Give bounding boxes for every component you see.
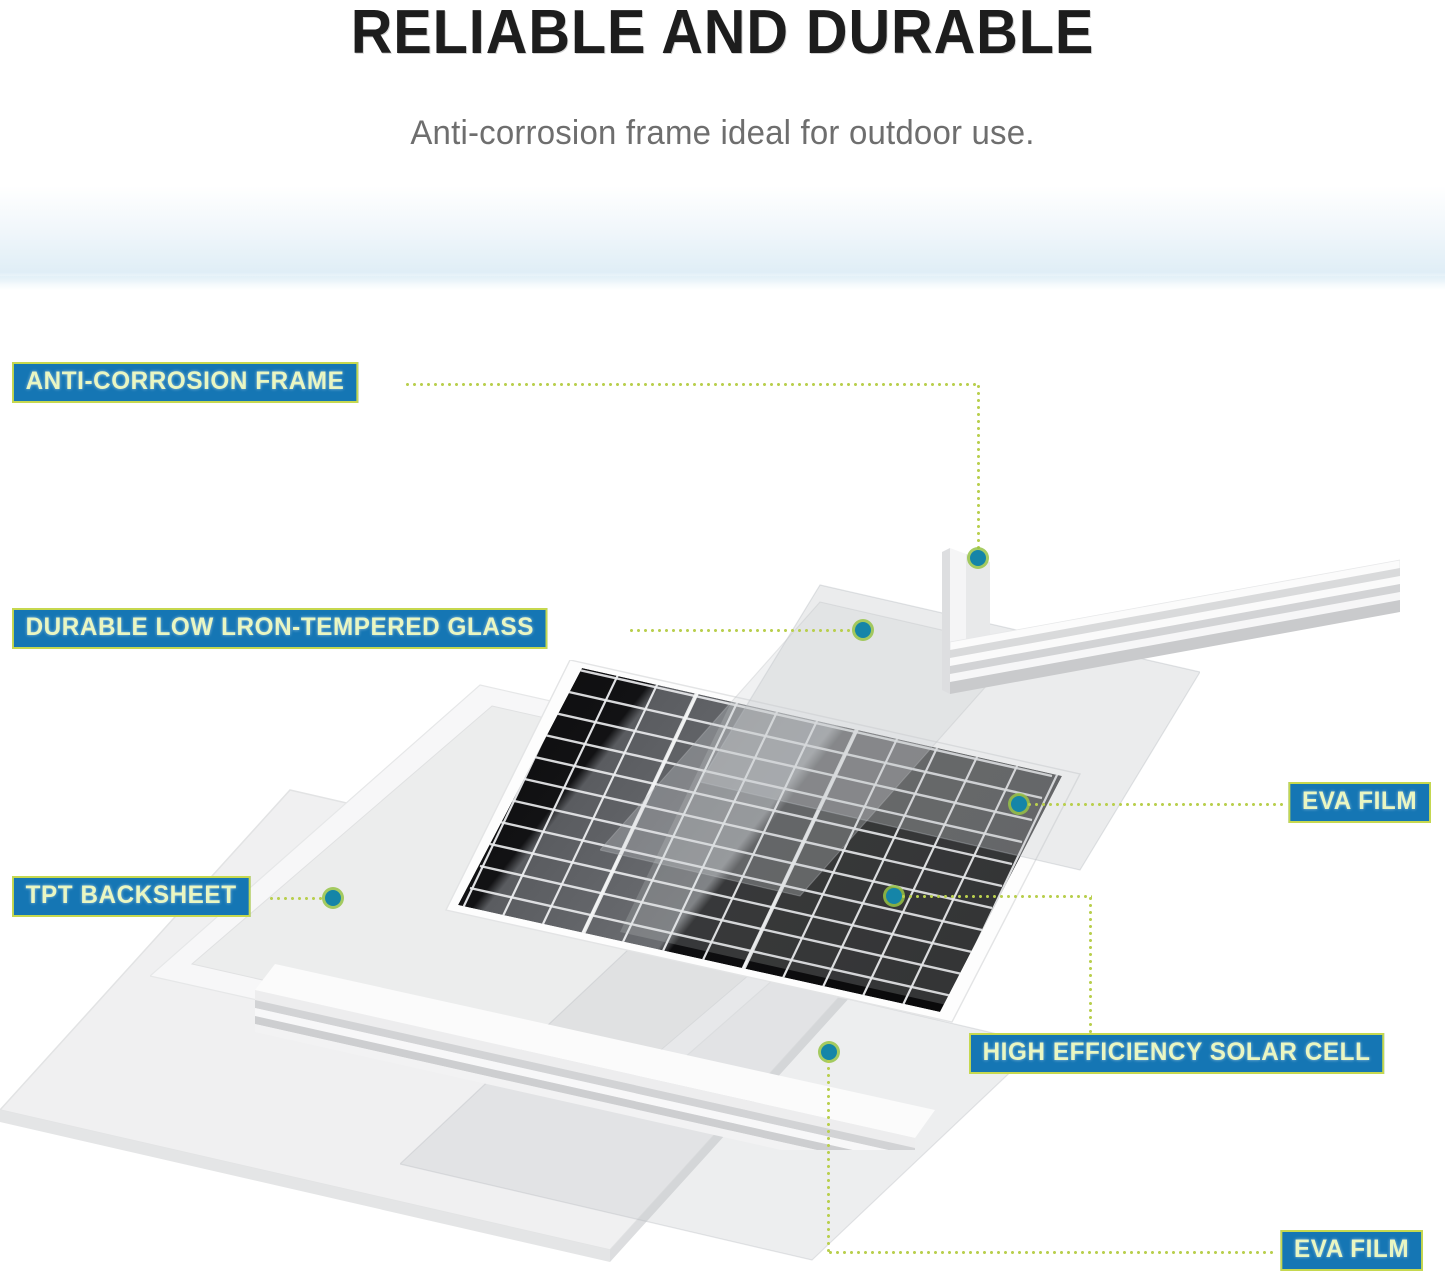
callout-tpt-backsheet-label: TPT BACKSHEET [26,881,237,909]
callout-anti-corrosion-frame[interactable]: ANTI-CORROSION FRAME [12,362,358,403]
horizon-gradient-band [0,186,1445,284]
connector-eva-film-top-horizontal [1026,803,1284,806]
node-tpt-backsheet [325,890,341,906]
callout-durable-glass-label: DURABLE LOW LRON-TEMPERED GLASS [26,613,534,641]
connector-durable-glass-horizontal [628,629,858,632]
page-title: RELIABLE AND DURABLE [51,0,1395,64]
header-banner: RELIABLE AND DURABLE Anti-corrosion fram… [0,0,1445,200]
node-anti-corrosion-frame [970,550,986,566]
callout-eva-film-top[interactable]: EVA FILM [1288,782,1430,823]
connector-eva-film-bottom-horizontal [827,1251,1277,1254]
connector-solar-cell-vertical [1089,895,1092,1035]
connector-eva-film-bottom-vertical [827,1058,830,1254]
callout-tpt-backsheet[interactable]: TPT BACKSHEET [12,876,250,917]
callout-eva-film-top-label: EVA FILM [1302,787,1417,815]
node-eva-film-top [1011,796,1027,812]
connector-solar-cell-horizontal [900,895,1092,898]
connector-anti-corrosion-frame-horizontal [404,383,979,386]
anti-corrosion-frame-rail [930,540,1400,700]
callout-eva-film-bottom-label: EVA FILM [1294,1235,1409,1263]
horizon-gradient-band-lower [0,276,1445,290]
callout-anti-corrosion-frame-label: ANTI-CORROSION FRAME [26,367,345,395]
exploded-view-diagram: ANTI-CORROSION FRAME DURABLE LOW LRON-TE… [0,300,1445,1288]
page-subtitle: Anti-corrosion frame ideal for outdoor u… [22,114,1424,153]
connector-tpt-backsheet-horizontal [268,897,328,900]
callout-durable-glass[interactable]: DURABLE LOW LRON-TEMPERED GLASS [12,608,548,649]
callout-solar-cell[interactable]: HIGH EFFICIENCY SOLAR CELL [969,1033,1384,1074]
connector-anti-corrosion-frame-vertical [977,383,980,558]
callout-solar-cell-label: HIGH EFFICIENCY SOLAR CELL [983,1038,1371,1066]
callout-eva-film-bottom[interactable]: EVA FILM [1280,1230,1422,1271]
node-durable-glass [855,622,871,638]
